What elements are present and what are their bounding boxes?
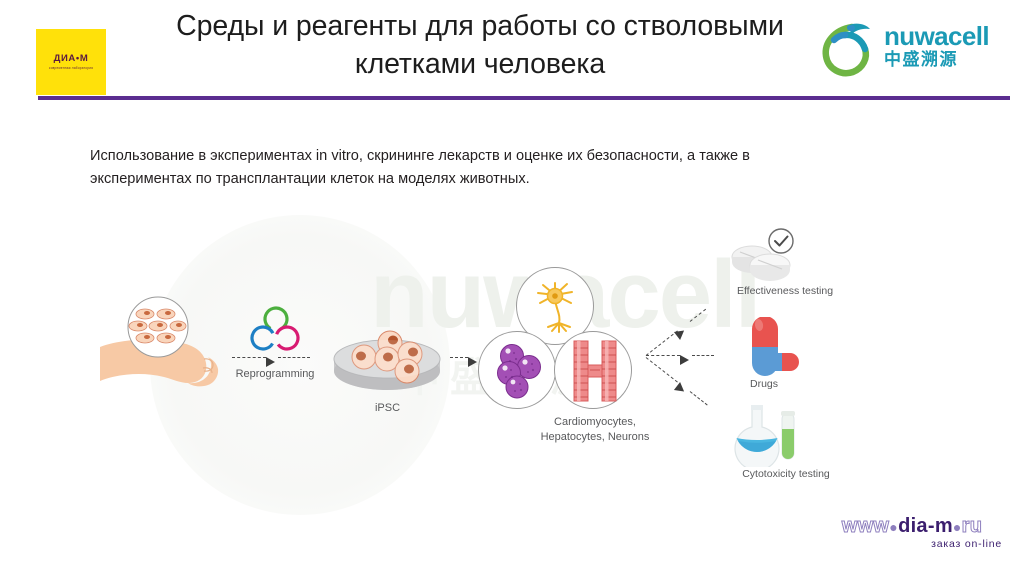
label-drugs: Drugs: [700, 377, 828, 391]
nuwacell-chinese: 中盛溯源: [884, 51, 989, 70]
arrow-reprogramming-right: [278, 357, 310, 358]
arrow-mid-tail: [692, 355, 714, 356]
pills-check-icon: [724, 227, 802, 289]
diam-logo-tagline: современная лаборатория: [49, 66, 93, 71]
footer-tagline: заказ on-line: [812, 538, 1012, 550]
arrow-reprogramming-head: [266, 357, 275, 367]
page-title: Среды и реагенты для работы со стволовым…: [150, 8, 810, 83]
arm-with-fibroblasts-icon: [100, 295, 260, 405]
petri-dish-icon: [330, 327, 445, 399]
hepatocytes-icon: [492, 343, 546, 399]
label-effectiveness-testing: Effectiveness testing: [690, 284, 880, 298]
label-ipsc: iPSC: [340, 401, 435, 416]
cardiomyocyte-icon: [568, 339, 622, 403]
nuwacell-name: nuwacell: [884, 23, 989, 50]
arrow-down-line: [646, 357, 678, 382]
flask-tube-icon: [730, 405, 802, 467]
diam-logo-name: ДИА•М: [54, 54, 89, 64]
neuron-icon: [526, 277, 584, 335]
footer-url: www●dia-m●ru: [812, 516, 1012, 536]
dia-m-footer-logo[interactable]: www●dia-m●ru заказ on-line: [812, 516, 1012, 550]
arrow-mid-line: [646, 355, 680, 356]
label-reprogramming: Reprogramming: [215, 367, 335, 382]
plasmid-rings-icon: [248, 305, 304, 357]
arrow-to-cells-left: [450, 357, 468, 358]
header-divider: [38, 96, 1010, 100]
label-derived-cells: Cardiomyocytes, Hepatocytes, Neurons: [490, 415, 700, 445]
arrow-down-head: [674, 382, 687, 395]
arrow-to-cells-head: [468, 357, 477, 367]
label-cytotoxicity-testing: Cytotoxicity testing: [688, 467, 884, 481]
footer-url-prefix: www: [842, 515, 890, 537]
lead-paragraph: Использование в экспериментах in vitro, …: [90, 145, 840, 190]
arrow-reprogramming-left: [232, 357, 266, 358]
footer-url-main: dia-m: [898, 515, 953, 537]
arrow-mid-head: [680, 355, 689, 365]
capsules-icon: [738, 317, 802, 379]
diam-logo: ДИА•М современная лаборатория: [36, 29, 106, 95]
slide-root: ДИА•М современная лаборатория Среды и ре…: [0, 0, 1024, 576]
nuwacell-mark-icon: [818, 20, 880, 82]
arrow-down-tail: [690, 391, 708, 405]
nuwacell-logo: nuwacell 中盛溯源: [818, 18, 1008, 86]
nuwacell-wordmark: nuwacell 中盛溯源: [884, 23, 989, 70]
workflow-diagram: nuwacell 中盛溯源: [0, 205, 1024, 505]
footer-url-tld: ru: [962, 515, 983, 537]
